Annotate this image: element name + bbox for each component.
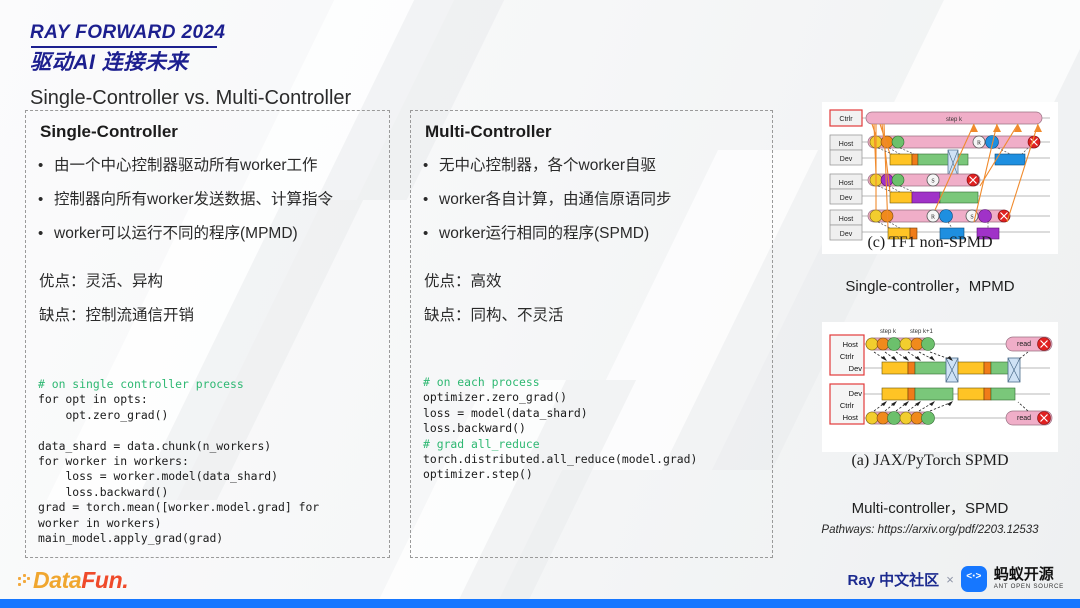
bullet-dot: • [423, 183, 439, 217]
slide-header: RAY FORWARD 2024 驱动AI 连接未来 [30, 22, 225, 76]
svg-text:Ctrlr: Ctrlr [839, 116, 853, 123]
code-body-2: torch.distributed.all_reduce(model.grad)… [423, 452, 697, 481]
cross-symbol: × [946, 572, 954, 587]
svg-text:Dev: Dev [840, 156, 853, 163]
figure-caption-a: (a) JAX/PyTorch SPMD [790, 452, 1070, 470]
panel-title: Single-Controller [40, 121, 377, 143]
bullet-text: 由一个中心控制器驱动所有worker工作 [54, 149, 318, 183]
ant-open-source-icon [961, 566, 987, 592]
figure-subcaption-a: Multi-controller，SPMD [785, 497, 1075, 518]
svg-text:Dev: Dev [849, 364, 863, 373]
ant-wordmark: 蚂蚁开源 ANT OPEN SOURCE [994, 567, 1064, 590]
svg-text:Dev: Dev [849, 389, 863, 398]
svg-text:Host: Host [839, 180, 853, 187]
bullet-dot: • [38, 183, 54, 217]
bullet-dot: • [38, 217, 54, 251]
svg-text:step k+1: step k+1 [910, 329, 934, 335]
brand-divider [31, 46, 217, 48]
code-block-single-controller: # on single controller process for opt i… [38, 377, 379, 546]
list-item: •worker运行相同的程序(SPMD) [423, 217, 760, 251]
list-item: •worker可以运行不同的程序(MPMD) [38, 217, 377, 251]
brand-title-en: RAY FORWARD 2024 [30, 22, 225, 44]
pros-text: 优点：高效 [424, 265, 760, 299]
code-body: optimizer.zero_grad() loss = model(data_… [423, 390, 588, 435]
code-text: # on each process optimizer.zero_grad() … [423, 375, 762, 483]
svg-text:read: read [1017, 341, 1031, 348]
svg-text:Host: Host [843, 413, 859, 422]
bullet-list: •由一个中心控制器驱动所有worker工作 •控制器向所有worker发送数据、… [38, 149, 377, 251]
figure-jax-pytorch-spmd: step k step k+1 Host Ctrlr Dev read Dev [822, 322, 1058, 452]
cons-text: 缺点：同构、不灵活 [424, 299, 760, 333]
figure-caption-c: (c) TF1 non-SPMD [790, 234, 1070, 252]
datafun-part-fun: Fun. [81, 567, 128, 593]
figure-spmd-svg: step k step k+1 Host Ctrlr Dev read Dev [822, 322, 1058, 452]
svg-text:step k: step k [880, 329, 897, 335]
code-comment-2: # grad all_reduce [423, 437, 540, 451]
footer-accent-bar [0, 599, 1080, 608]
code-text: # on single controller process for opt i… [38, 377, 379, 546]
bullet-text: worker运行相同的程序(SPMD) [439, 217, 649, 251]
list-item: •无中心控制器，各个worker自驱 [423, 149, 760, 183]
panel-single-controller: Single-Controller •由一个中心控制器驱动所有worker工作 … [25, 110, 390, 558]
svg-text:S: S [931, 179, 934, 185]
panel-title: Multi-Controller [425, 121, 760, 143]
bullet-dot: • [38, 149, 54, 183]
bullet-text: worker可以运行不同的程序(MPMD) [54, 217, 298, 251]
brand-title-cn: 驱动AI 连接未来 [30, 50, 225, 76]
code-comment: # on single controller process [38, 377, 244, 391]
datafun-wordmark: DataFun. [33, 567, 128, 594]
source-note: Pathways: https://arxiv.org/pdf/2203.125… [780, 524, 1080, 536]
bullet-list: •无中心控制器，各个worker自驱 •worker各自计算，由通信原语同步 •… [423, 149, 760, 251]
svg-text:Ctrlr: Ctrlr [840, 401, 855, 410]
ray-community-label: Ray 中文社区 [848, 569, 940, 590]
bullet-dot: • [423, 149, 439, 183]
ant-label-en: ANT OPEN SOURCE [994, 584, 1064, 590]
svg-text:Dev: Dev [840, 195, 853, 202]
ant-label-cn: 蚂蚁开源 [994, 567, 1064, 582]
svg-text:Host: Host [843, 340, 859, 349]
pros-text: 优点：灵活、异构 [39, 265, 377, 299]
ray-ant-lockup: Ray 中文社区 × 蚂蚁开源 ANT OPEN SOURCE [848, 566, 1065, 592]
list-item: •worker各自计算，由通信原语同步 [423, 183, 760, 217]
pros-cons-block: 优点：灵活、异构 缺点：控制流通信开销 [38, 265, 377, 333]
code-block-multi-controller: # on each process optimizer.zero_grad() … [423, 375, 762, 483]
code-comment: # on each process [423, 375, 540, 389]
figure-tf1-non-spmd: Ctrlr step k Host Dev R Host Dev [822, 102, 1058, 254]
list-item: •由一个中心控制器驱动所有worker工作 [38, 149, 377, 183]
svg-text:R: R [977, 141, 981, 147]
svg-text:Ctrlr: Ctrlr [840, 352, 855, 361]
code-body: for opt in opts: opt.zero_grad() data_sh… [38, 392, 319, 545]
svg-text:Host: Host [839, 141, 853, 148]
cons-text: 缺点：控制流通信开销 [39, 299, 377, 333]
bullet-text: 无中心控制器，各个worker自驱 [439, 149, 656, 183]
datafun-dots-icon [18, 573, 32, 589]
svg-text:read: read [1017, 415, 1031, 422]
svg-text:S: S [970, 215, 973, 221]
pros-cons-block: 优点：高效 缺点：同构、不灵活 [423, 265, 760, 333]
svg-text:R: R [931, 215, 935, 221]
panel-multi-controller: Multi-Controller •无中心控制器，各个worker自驱 •wor… [410, 110, 773, 558]
svg-text:step k: step k [946, 117, 963, 123]
datafun-logo: DataFun. [18, 567, 128, 594]
figure-tf1-svg: Ctrlr step k Host Dev R Host Dev [822, 102, 1058, 254]
list-item: •控制器向所有worker发送数据、计算指令 [38, 183, 377, 217]
figure-subcaption-c: Single-controller，MPMD [785, 275, 1075, 296]
bullet-text: 控制器向所有worker发送数据、计算指令 [54, 183, 333, 217]
bullet-dot: • [423, 217, 439, 251]
page-title: Single-Controller vs. Multi-Controller [30, 86, 351, 110]
datafun-part-data: Data [33, 567, 81, 593]
bullet-text: worker各自计算，由通信原语同步 [439, 183, 672, 217]
svg-text:Host: Host [839, 216, 853, 223]
